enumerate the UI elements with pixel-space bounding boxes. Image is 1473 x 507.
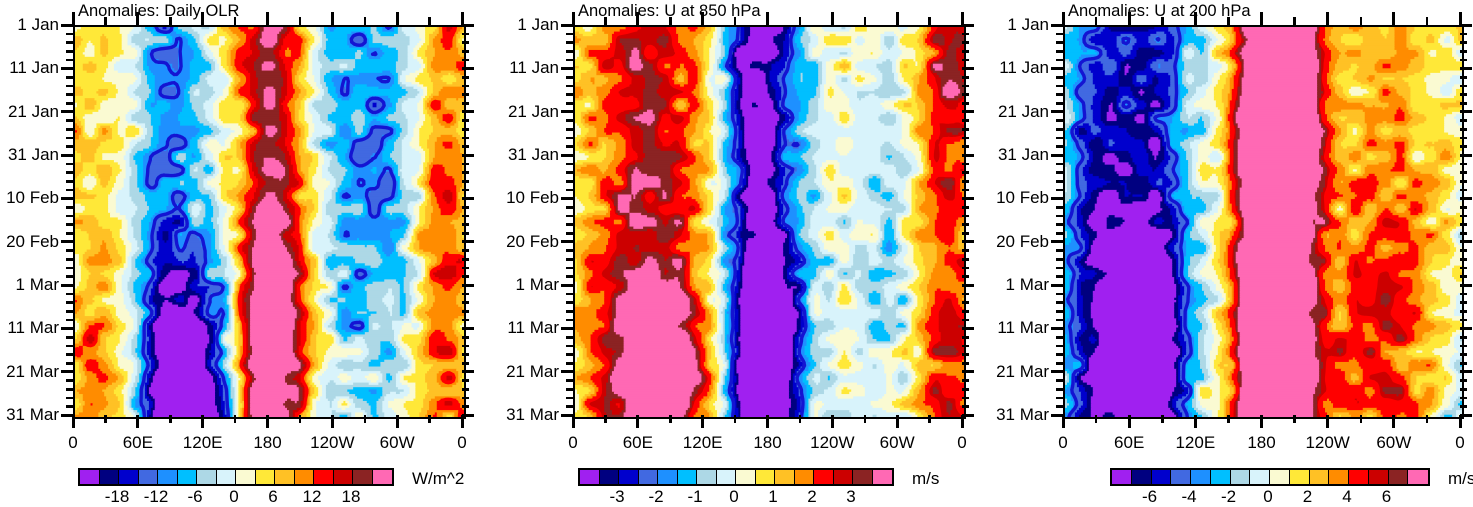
y-major-tick-right — [962, 197, 974, 200]
x-tick-label: 180 — [253, 433, 281, 453]
colorbar-swatch — [1211, 470, 1231, 484]
y-minor-tick — [1056, 397, 1063, 400]
y-tick-label: 31 Jan — [981, 145, 1049, 165]
x-minor-tick-top — [299, 17, 302, 25]
y-major-tick-right — [962, 154, 974, 157]
colorbar-swatch — [795, 470, 815, 484]
y-major-tick-right — [962, 24, 974, 27]
y-minor-tick — [66, 33, 73, 36]
x-major-tick-top — [1260, 12, 1263, 25]
colorbar-swatch — [139, 470, 159, 484]
y-minor-tick — [1056, 41, 1063, 44]
y-minor-tick — [566, 33, 573, 36]
colorbar-swatch — [834, 470, 854, 484]
x-major-tick — [1128, 415, 1131, 428]
x-minor-tick — [604, 415, 607, 423]
x-major-tick-top — [701, 12, 704, 25]
y-major-tick — [561, 327, 573, 330]
x-minor-tick-top — [1360, 17, 1363, 25]
y-major-tick-right — [462, 197, 474, 200]
x-minor-tick-top — [799, 17, 802, 25]
y-tick-label: 31 Mar — [0, 405, 59, 425]
y-major-tick-right — [962, 370, 974, 373]
x-major-tick-top — [1459, 12, 1462, 25]
y-minor-tick — [66, 336, 73, 339]
y-minor-tick — [66, 85, 73, 88]
colorbar-tick-label: 2 — [1303, 487, 1312, 507]
x-minor-tick — [299, 415, 302, 423]
x-major-tick — [1260, 415, 1263, 428]
y-minor-tick-right — [462, 145, 469, 148]
colorbar — [578, 468, 894, 486]
x-minor-tick — [169, 415, 172, 423]
y-minor-tick-right — [962, 206, 969, 209]
y-minor-tick — [566, 310, 573, 313]
y-minor-tick-right — [1460, 215, 1467, 218]
y-minor-tick-right — [962, 128, 969, 131]
y-minor-tick-right — [462, 128, 469, 131]
y-tick-label: 20 Feb — [491, 232, 559, 252]
x-major-tick-top — [1062, 12, 1065, 25]
contour-field — [575, 27, 964, 417]
x-minor-tick-top — [364, 17, 367, 25]
y-minor-tick-right — [962, 33, 969, 36]
x-minor-tick — [1360, 415, 1363, 423]
x-tick-label: 120W — [310, 433, 354, 453]
y-tick-label: 1 Jan — [0, 15, 59, 35]
colorbar-swatch — [1369, 470, 1389, 484]
colorbar-swatch — [236, 470, 256, 484]
y-minor-tick-right — [1460, 362, 1467, 365]
y-minor-tick-right — [1460, 163, 1467, 166]
y-minor-tick-right — [962, 232, 969, 235]
colorbar-swatch — [158, 470, 178, 484]
y-minor-tick-right — [1460, 119, 1467, 122]
y-minor-tick-right — [462, 267, 469, 270]
y-minor-tick — [1056, 345, 1063, 348]
colorbar-swatch — [334, 470, 354, 484]
colorbar-swatch — [1250, 470, 1270, 484]
y-minor-tick — [1056, 267, 1063, 270]
y-minor-tick — [66, 145, 73, 148]
y-tick-label: 11 Mar — [0, 318, 59, 338]
x-minor-tick — [1161, 415, 1164, 423]
y-minor-tick-right — [462, 275, 469, 278]
y-tick-label: 11 Mar — [491, 318, 559, 338]
colorbar-swatch — [256, 470, 276, 484]
y-minor-tick-right — [462, 206, 469, 209]
y-minor-tick-right — [462, 215, 469, 218]
y-minor-tick — [1056, 293, 1063, 296]
y-major-tick-right — [462, 110, 474, 113]
y-major-tick-right — [1460, 240, 1472, 243]
x-minor-tick — [864, 415, 867, 423]
y-minor-tick-right — [1460, 145, 1467, 148]
contour-field — [1065, 27, 1462, 417]
y-minor-tick-right — [962, 258, 969, 261]
y-minor-tick — [1056, 189, 1063, 192]
x-minor-tick-top — [1095, 17, 1098, 25]
y-major-tick — [561, 110, 573, 113]
x-tick-label: 0 — [1058, 433, 1067, 453]
y-major-tick-right — [962, 414, 974, 417]
y-minor-tick — [566, 249, 573, 252]
contour-field — [75, 27, 464, 417]
x-major-tick-top — [831, 12, 834, 25]
y-minor-tick — [1056, 310, 1063, 313]
colorbar-swatch — [80, 470, 100, 484]
y-minor-tick-right — [462, 336, 469, 339]
colorbar-swatch — [678, 470, 698, 484]
y-tick-label: 21 Jan — [0, 102, 59, 122]
y-major-tick-right — [1460, 67, 1472, 70]
x-minor-tick — [234, 415, 237, 423]
y-major-tick — [1051, 284, 1063, 287]
y-minor-tick — [1056, 171, 1063, 174]
colorbar-tick-label: -2 — [648, 487, 663, 507]
y-minor-tick-right — [462, 85, 469, 88]
y-minor-tick — [1056, 128, 1063, 131]
y-minor-tick-right — [1460, 128, 1467, 131]
y-minor-tick — [1056, 379, 1063, 382]
colorbar-tick-label: 3 — [846, 487, 855, 507]
x-tick-label: 180 — [753, 433, 781, 453]
x-major-tick — [72, 415, 75, 428]
y-minor-tick — [66, 76, 73, 79]
y-minor-tick-right — [462, 293, 469, 296]
y-minor-tick-right — [962, 93, 969, 96]
y-major-tick-right — [1460, 327, 1472, 330]
y-tick-label: 11 Jan — [981, 58, 1049, 78]
x-major-tick-top — [1128, 12, 1131, 25]
colorbar-tick-label: 4 — [1342, 487, 1351, 507]
y-tick-label: 20 Feb — [981, 232, 1049, 252]
y-major-tick — [61, 154, 73, 157]
y-minor-tick — [566, 93, 573, 96]
colorbar — [1110, 468, 1430, 486]
colorbar-tick-label: 12 — [303, 487, 322, 507]
y-minor-tick-right — [1460, 180, 1467, 183]
colorbar-tick-label: 6 — [268, 487, 277, 507]
y-minor-tick — [566, 102, 573, 105]
y-minor-tick-right — [962, 388, 969, 391]
y-minor-tick-right — [1460, 33, 1467, 36]
y-minor-tick — [1056, 336, 1063, 339]
y-minor-tick — [566, 50, 573, 53]
y-minor-tick — [1056, 50, 1063, 53]
y-major-tick-right — [962, 327, 974, 330]
y-tick-label: 10 Feb — [981, 188, 1049, 208]
colorbar-swatch — [600, 470, 620, 484]
y-minor-tick-right — [1460, 258, 1467, 261]
y-minor-tick — [566, 76, 573, 79]
y-minor-tick-right — [962, 319, 969, 322]
y-major-tick-right — [1460, 197, 1472, 200]
y-minor-tick-right — [962, 336, 969, 339]
y-minor-tick — [1056, 59, 1063, 62]
y-minor-tick — [66, 232, 73, 235]
colorbar-swatch — [1132, 470, 1152, 484]
y-major-tick — [61, 240, 73, 243]
y-minor-tick — [1056, 119, 1063, 122]
y-minor-tick-right — [462, 50, 469, 53]
x-major-tick-top — [766, 12, 769, 25]
colorbar-tick-label: -12 — [144, 487, 169, 507]
y-minor-tick-right — [962, 223, 969, 226]
x-minor-tick — [669, 415, 672, 423]
y-minor-tick-right — [1460, 388, 1467, 391]
y-minor-tick — [566, 267, 573, 270]
y-minor-tick-right — [1460, 397, 1467, 400]
y-tick-label: 21 Jan — [981, 102, 1049, 122]
colorbar-swatch — [295, 470, 315, 484]
x-major-tick-top — [266, 12, 269, 25]
colorbar-swatch — [1152, 470, 1172, 484]
y-major-tick-right — [962, 110, 974, 113]
y-major-tick-right — [462, 414, 474, 417]
y-minor-tick — [566, 137, 573, 140]
y-major-tick — [61, 327, 73, 330]
y-minor-tick-right — [1460, 275, 1467, 278]
x-major-tick — [331, 415, 334, 428]
y-minor-tick — [66, 102, 73, 105]
colorbar-tick-label: -1 — [687, 487, 702, 507]
y-minor-tick — [66, 206, 73, 209]
x-minor-tick-top — [1426, 17, 1429, 25]
y-minor-tick — [566, 189, 573, 192]
y-major-tick-right — [462, 284, 474, 287]
y-major-tick-right — [1460, 414, 1472, 417]
y-minor-tick-right — [462, 171, 469, 174]
y-major-tick — [61, 110, 73, 113]
x-major-tick — [896, 415, 899, 428]
x-major-tick-top — [201, 12, 204, 25]
y-major-tick — [61, 197, 73, 200]
x-tick-label: 120W — [1305, 433, 1349, 453]
x-minor-tick — [364, 415, 367, 423]
y-minor-tick — [1056, 249, 1063, 252]
colorbar-swatch — [717, 470, 737, 484]
y-minor-tick-right — [962, 163, 969, 166]
colorbar-swatch — [1290, 470, 1310, 484]
x-tick-label: 60E — [623, 433, 653, 453]
colorbar-unit-label: m/s — [912, 469, 939, 489]
y-tick-label: 1 Jan — [981, 15, 1049, 35]
y-major-tick — [1051, 370, 1063, 373]
y-minor-tick-right — [962, 310, 969, 313]
y-minor-tick — [566, 59, 573, 62]
x-tick-label: 120E — [1175, 433, 1215, 453]
y-minor-tick — [1056, 76, 1063, 79]
y-minor-tick — [566, 232, 573, 235]
y-minor-tick-right — [962, 180, 969, 183]
x-minor-tick — [928, 415, 931, 423]
y-minor-tick — [66, 267, 73, 270]
y-minor-tick-right — [462, 232, 469, 235]
x-minor-tick-top — [1227, 17, 1230, 25]
y-minor-tick — [66, 50, 73, 53]
y-major-tick — [561, 197, 573, 200]
y-minor-tick-right — [962, 249, 969, 252]
y-minor-tick — [1056, 223, 1063, 226]
y-minor-tick — [1056, 275, 1063, 278]
y-minor-tick — [1056, 362, 1063, 365]
y-tick-label: 31 Jan — [491, 145, 559, 165]
x-tick-label: 0 — [457, 433, 466, 453]
colorbar-swatch — [619, 470, 639, 484]
y-minor-tick-right — [962, 119, 969, 122]
y-major-tick-right — [462, 154, 474, 157]
y-minor-tick-right — [462, 223, 469, 226]
y-minor-tick-right — [962, 397, 969, 400]
colorbar-tick-label: 6 — [1382, 487, 1391, 507]
y-minor-tick-right — [462, 189, 469, 192]
x-minor-tick-top — [428, 17, 431, 25]
y-major-tick — [1051, 197, 1063, 200]
colorbar-unit-label: W/m^2 — [412, 469, 464, 489]
x-major-tick-top — [572, 12, 575, 25]
y-minor-tick — [66, 345, 73, 348]
y-major-tick — [1051, 67, 1063, 70]
colorbar-tick-label: 18 — [342, 487, 361, 507]
x-tick-label: 60E — [123, 433, 153, 453]
y-minor-tick — [66, 93, 73, 96]
panel-title: Anomalies: Daily OLR — [78, 2, 239, 21]
x-minor-tick-top — [864, 17, 867, 25]
colorbar-swatch — [353, 470, 373, 484]
colorbar-swatch — [853, 470, 873, 484]
y-minor-tick-right — [962, 102, 969, 105]
colorbar-swatch — [119, 470, 139, 484]
y-tick-label: 11 Jan — [0, 58, 59, 78]
y-major-tick-right — [1460, 24, 1472, 27]
y-minor-tick-right — [1460, 249, 1467, 252]
y-minor-tick-right — [462, 319, 469, 322]
y-minor-tick — [66, 249, 73, 252]
y-major-tick-right — [462, 67, 474, 70]
y-minor-tick-right — [462, 405, 469, 408]
x-major-tick-top — [396, 12, 399, 25]
x-major-tick-top — [961, 12, 964, 25]
x-major-tick-top — [896, 12, 899, 25]
y-minor-tick-right — [1460, 137, 1467, 140]
x-major-tick — [1194, 415, 1197, 428]
y-minor-tick-right — [1460, 189, 1467, 192]
x-major-tick — [201, 415, 204, 428]
y-minor-tick-right — [462, 388, 469, 391]
y-minor-tick-right — [1460, 50, 1467, 53]
y-minor-tick — [66, 189, 73, 192]
y-minor-tick — [1056, 215, 1063, 218]
y-minor-tick — [66, 119, 73, 122]
y-tick-label: 10 Feb — [0, 188, 59, 208]
y-minor-tick — [566, 85, 573, 88]
y-minor-tick-right — [462, 249, 469, 252]
y-minor-tick — [66, 319, 73, 322]
y-minor-tick — [66, 215, 73, 218]
y-minor-tick — [1056, 102, 1063, 105]
x-major-tick — [766, 415, 769, 428]
y-minor-tick-right — [1460, 345, 1467, 348]
y-minor-tick — [1056, 163, 1063, 166]
x-minor-tick — [1293, 415, 1296, 423]
y-minor-tick — [566, 171, 573, 174]
x-major-tick-top — [1392, 12, 1395, 25]
y-minor-tick-right — [1460, 405, 1467, 408]
y-minor-tick — [66, 180, 73, 183]
x-minor-tick-top — [928, 17, 931, 25]
y-tick-label: 31 Mar — [491, 405, 559, 425]
colorbar-tick-label: 0 — [229, 487, 238, 507]
y-major-tick-right — [462, 24, 474, 27]
colorbar-swatch — [1408, 470, 1428, 484]
y-minor-tick — [566, 319, 573, 322]
y-minor-tick-right — [1460, 76, 1467, 79]
y-major-tick — [561, 284, 573, 287]
x-minor-tick-top — [604, 17, 607, 25]
y-major-tick — [561, 240, 573, 243]
plot-area — [1063, 25, 1464, 419]
y-minor-tick — [1056, 301, 1063, 304]
y-minor-tick-right — [1460, 336, 1467, 339]
x-minor-tick-top — [669, 17, 672, 25]
y-minor-tick — [1056, 33, 1063, 36]
y-minor-tick-right — [962, 85, 969, 88]
y-minor-tick — [66, 258, 73, 261]
x-major-tick — [701, 415, 704, 428]
x-tick-label: 0 — [68, 433, 77, 453]
colorbar-tick-label: -6 — [187, 487, 202, 507]
y-minor-tick — [566, 41, 573, 44]
y-minor-tick-right — [1460, 102, 1467, 105]
x-tick-label: 120E — [183, 433, 223, 453]
x-tick-label: 60E — [1114, 433, 1144, 453]
colorbar-tick-label: 2 — [807, 487, 816, 507]
y-minor-tick — [566, 293, 573, 296]
x-major-tick-top — [461, 12, 464, 25]
y-minor-tick-right — [462, 258, 469, 261]
y-minor-tick — [566, 163, 573, 166]
y-minor-tick-right — [462, 180, 469, 183]
x-major-tick — [1062, 415, 1065, 428]
figure-root: Anomalies: Daily OLR1 Jan11 Jan21 Jan31 … — [0, 0, 1473, 497]
y-major-tick-right — [462, 240, 474, 243]
y-major-tick-right — [1460, 284, 1472, 287]
y-minor-tick — [66, 388, 73, 391]
y-minor-tick — [1056, 232, 1063, 235]
y-major-tick-right — [962, 67, 974, 70]
colorbar-tick-label: 1 — [768, 487, 777, 507]
y-minor-tick — [66, 379, 73, 382]
x-minor-tick — [799, 415, 802, 423]
y-tick-label: 1 Mar — [491, 275, 559, 295]
y-minor-tick-right — [462, 41, 469, 44]
x-minor-tick — [1426, 415, 1429, 423]
y-minor-tick-right — [462, 33, 469, 36]
x-minor-tick — [734, 415, 737, 423]
y-minor-tick-right — [1460, 353, 1467, 356]
y-minor-tick-right — [1460, 206, 1467, 209]
y-major-tick — [61, 370, 73, 373]
y-minor-tick-right — [962, 171, 969, 174]
y-minor-tick — [66, 223, 73, 226]
x-tick-label: 0 — [1455, 433, 1464, 453]
x-major-tick-top — [72, 12, 75, 25]
y-minor-tick-right — [462, 59, 469, 62]
colorbar-swatch — [697, 470, 717, 484]
colorbar-swatch — [1310, 470, 1330, 484]
x-tick-label: 180 — [1247, 433, 1275, 453]
